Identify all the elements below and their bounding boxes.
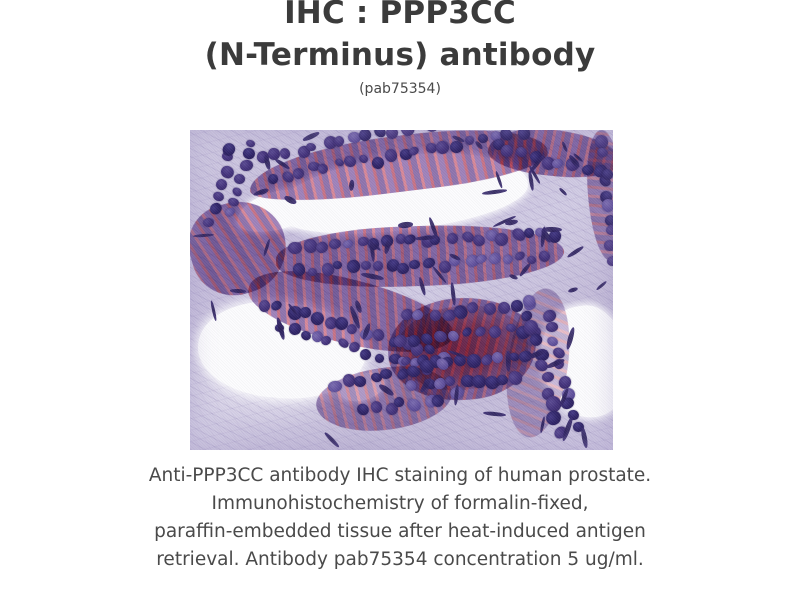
cell-nucleus: [446, 329, 460, 343]
stromal-spindle-nucleus: [483, 410, 507, 417]
cell-nucleus: [409, 259, 421, 269]
ihc-micrograph: covalab R&D in Biotechnology: [190, 130, 613, 450]
cell-nucleus: [515, 130, 531, 141]
stromal-spindle-nucleus: [209, 300, 217, 321]
cell-nucleus: [333, 260, 343, 269]
cell-nucleus: [386, 130, 399, 139]
cell-nucleus: [288, 323, 300, 335]
caption-line-4: retrieval. Antibody pab75354 concentrati…: [0, 546, 800, 574]
cell-nucleus: [446, 232, 459, 245]
stromal-spindle-nucleus: [565, 327, 576, 350]
cell-nucleus: [494, 232, 508, 246]
stromal-spindle-nucleus: [193, 234, 214, 239]
micrograph-canvas: [190, 130, 613, 450]
cell-nucleus: [460, 326, 473, 339]
cell-nucleus: [214, 178, 228, 192]
cell-nucleus: [358, 348, 372, 362]
cell-nucleus: [502, 253, 515, 265]
cell-nucleus: [606, 255, 613, 267]
stromal-spindle-nucleus: [558, 187, 567, 196]
cell-nucleus: [410, 308, 424, 321]
page-title-line-2: (N-Terminus) antibody: [0, 36, 800, 74]
cell-nucleus: [328, 238, 342, 250]
stromal-spindle-nucleus: [508, 273, 518, 280]
cell-nucleus: [207, 201, 224, 218]
cell-nucleus: [370, 155, 385, 170]
stromal-spindle-nucleus: [302, 131, 320, 143]
cell-nucleus: [546, 321, 558, 331]
cell-nucleus: [604, 223, 613, 237]
cell-nucleus: [483, 302, 496, 315]
cell-nucleus: [320, 335, 333, 347]
cell-nucleus: [361, 261, 371, 270]
catalog-number: (pab75354): [0, 80, 800, 98]
cell-nucleus: [342, 238, 354, 249]
stromal-spindle-nucleus: [518, 262, 531, 276]
cell-nucleus: [328, 380, 343, 392]
cell-nucleus: [342, 154, 358, 169]
cell-nucleus: [603, 240, 613, 251]
cell-nucleus: [372, 328, 387, 343]
cell-nucleus: [434, 140, 449, 155]
cell-nucleus: [379, 368, 391, 378]
stromal-spindle-nucleus: [262, 239, 271, 257]
stromal-spindle-nucleus: [398, 221, 413, 228]
figure-caption: Anti-PPP3CC antibody IHC staining of hum…: [0, 462, 800, 574]
stromal-spindle-nucleus: [418, 277, 427, 296]
cell-nucleus: [300, 307, 311, 318]
cell-nucleus: [308, 310, 326, 327]
cell-nucleus: [495, 300, 512, 317]
stromal-spindle-nucleus: [596, 280, 608, 291]
stromal-spindle-nucleus: [378, 382, 395, 396]
cell-nucleus: [307, 267, 317, 276]
stromal-spindle-nucleus: [481, 188, 506, 195]
stromal-spindle-nucleus: [349, 179, 355, 190]
cell-nucleus: [487, 325, 502, 340]
cell-nucleus: [486, 251, 502, 267]
cell-nucleus: [429, 309, 441, 321]
cell-nucleus: [358, 153, 370, 165]
cell-nucleus: [354, 375, 367, 386]
cell-nucleus: [602, 199, 613, 212]
cell-nucleus: [202, 218, 214, 228]
cell-nucleus: [266, 172, 279, 185]
cell-nucleus: [474, 324, 488, 338]
stromal-spindle-nucleus: [274, 157, 290, 169]
cell-nucleus: [537, 249, 552, 264]
cell-nucleus: [355, 401, 371, 417]
stromal-spindle-nucleus: [506, 350, 511, 371]
cell-nucleus: [288, 242, 302, 254]
stromal-spindle-nucleus: [495, 171, 504, 189]
stromal-spindle-nucleus: [580, 427, 589, 448]
cell-nucleus: [404, 378, 418, 392]
cell-nucleus: [500, 143, 515, 157]
stromal-spindle-nucleus: [451, 282, 457, 305]
stromal-spindle-nucleus: [505, 219, 518, 226]
cell-nucleus: [292, 261, 308, 277]
cell-nucleus: [259, 299, 271, 312]
caption-line-3: paraffin-embedded tissue after heat-indu…: [0, 518, 800, 546]
cell-nucleus: [544, 408, 564, 428]
nuclei-layer: [190, 130, 613, 450]
cell-nucleus: [405, 396, 423, 413]
cell-nucleus: [345, 258, 363, 275]
stromal-spindle-nucleus: [567, 287, 578, 294]
cell-nucleus: [227, 197, 239, 208]
cell-nucleus: [242, 146, 256, 159]
cell-nucleus: [423, 130, 441, 134]
caption-line-2: Immunohistochemistry of formalin-fixed,: [0, 490, 800, 518]
cell-nucleus: [398, 130, 416, 138]
cell-nucleus: [541, 371, 554, 382]
cell-nucleus: [596, 147, 609, 159]
cell-nucleus: [239, 159, 253, 172]
cell-nucleus: [510, 299, 523, 312]
page-title-line-1: IHC : PPP3CC: [0, 0, 800, 32]
cell-nucleus: [383, 148, 397, 163]
figure-header: IHC : PPP3CC (N-Terminus) antibody (pab7…: [0, 0, 800, 98]
cell-nucleus: [397, 263, 409, 274]
cell-nucleus: [433, 329, 449, 344]
cell-nucleus: [224, 206, 237, 218]
cell-nucleus: [278, 146, 292, 161]
cell-nucleus: [269, 299, 284, 313]
cell-nucleus: [372, 260, 383, 271]
cell-nucleus: [212, 190, 226, 203]
caption-line-1: Anti-PPP3CC antibody IHC staining of hum…: [0, 462, 800, 490]
stromal-spindle-nucleus: [561, 141, 568, 152]
stromal-spindle-nucleus: [283, 194, 297, 205]
cell-nucleus: [515, 145, 529, 158]
cell-nucleus: [233, 173, 245, 184]
cell-nucleus: [374, 353, 385, 364]
cell-nucleus: [514, 250, 527, 262]
cell-nucleus: [465, 353, 482, 370]
cell-nucleus: [369, 399, 385, 415]
stromal-spindle-nucleus: [230, 289, 246, 293]
cell-nucleus: [505, 323, 517, 333]
stromal-spindle-nucleus: [566, 245, 584, 259]
cell-nucleus: [490, 350, 504, 364]
cell-nucleus: [336, 336, 349, 349]
stromal-spindle-nucleus: [361, 272, 385, 281]
stromal-spindle-nucleus: [324, 431, 341, 448]
